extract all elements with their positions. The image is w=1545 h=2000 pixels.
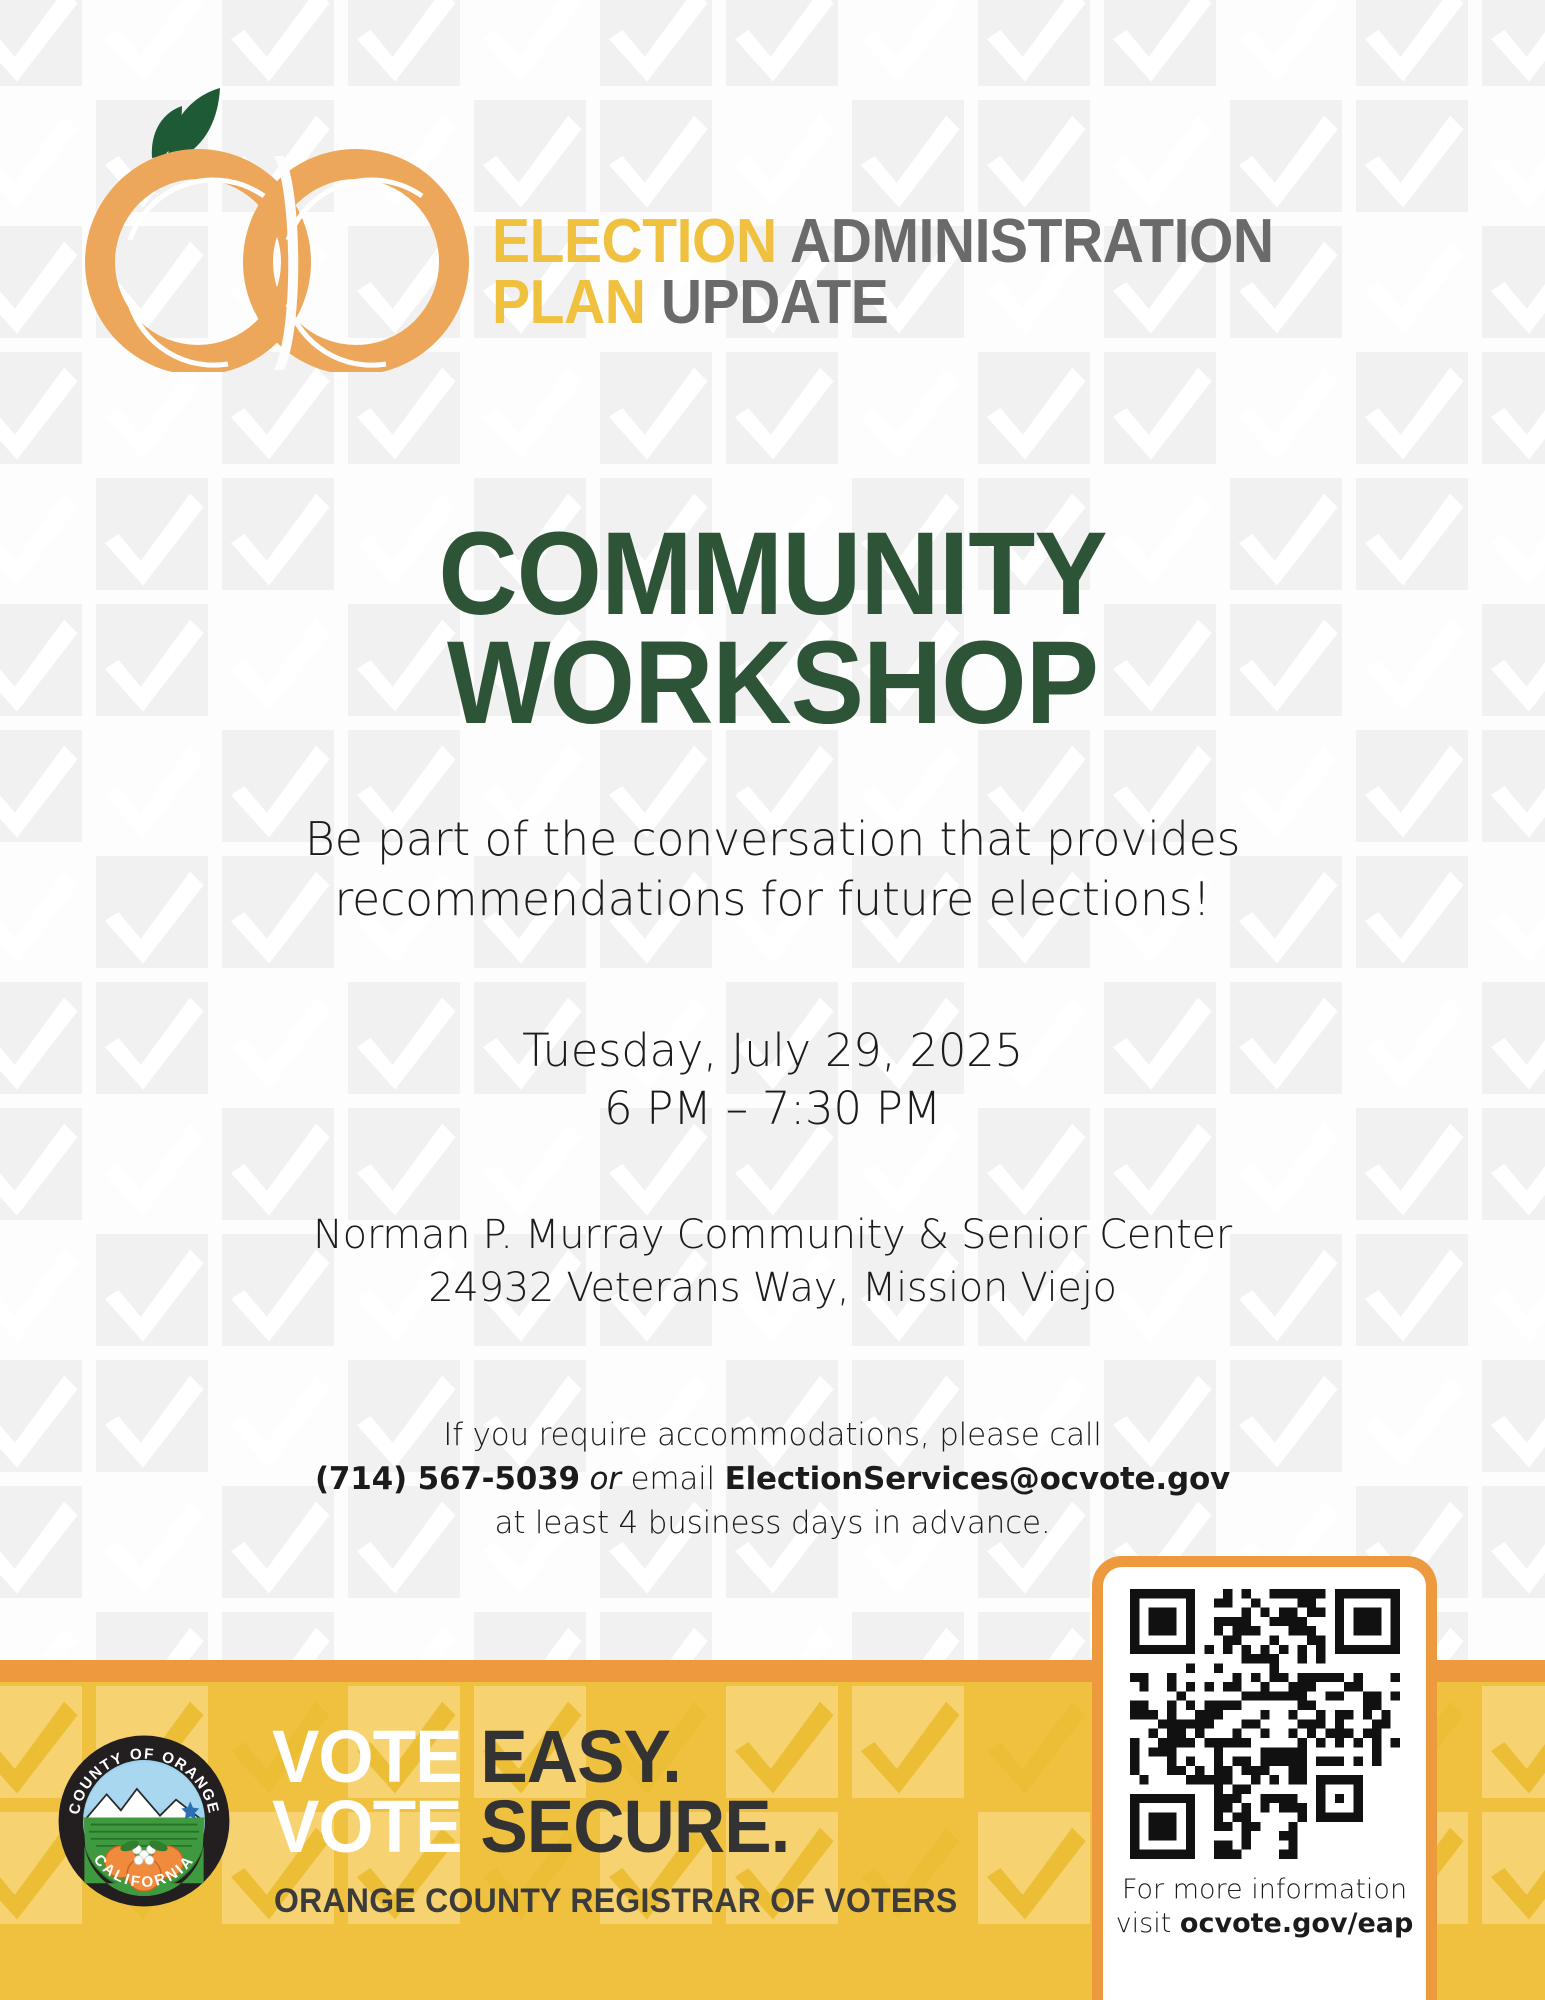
qr-caption: For more information visit ocvote.gov/ea… — [1116, 1873, 1414, 1941]
header-title-line-1: ELECTION ADMINISTRATION — [492, 212, 1274, 273]
event-venue: Norman P. Murray Community & Senior Cent… — [0, 1209, 1545, 1262]
header-update-word: UPDATE — [661, 268, 889, 337]
qr-visit-word: visit — [1116, 1908, 1172, 1939]
slogan-secure: SECURE. — [480, 1785, 789, 1868]
header-title-block: ELECTION ADMINISTRATION PLAN UPDATE — [492, 212, 1342, 334]
page-title-line-2: WORKSHOP — [54, 629, 1491, 738]
qr-caption-line-1: For more information — [1116, 1873, 1414, 1907]
vote-slogan: VOTE EASY. VOTE SECURE. — [272, 1722, 811, 1863]
accommodations-line-1: If you require accommodations, please ca… — [0, 1413, 1545, 1457]
qr-caption-line-2: visit ocvote.gov/eap — [1116, 1907, 1414, 1941]
lead-line-1: Be part of the conversation that provide… — [0, 810, 1545, 870]
event-time: 6 PM – 7:30 PM — [0, 1080, 1545, 1139]
accommodations-phone[interactable]: (714) 567-5039 — [315, 1461, 580, 1497]
accommodations-email-prefix: email — [630, 1461, 715, 1497]
event-address: 24932 Veterans Way, Mission Viejo — [0, 1262, 1545, 1315]
flyer-page: ELECTION ADMINISTRATION PLAN UPDATE COMM… — [0, 0, 1545, 2000]
accommodations-line-2: (714) 567-5039 or email ElectionServices… — [0, 1457, 1545, 1501]
lead-line-2: recommendations for future elections! — [0, 870, 1545, 930]
page-title: COMMUNITY WORKSHOP — [0, 520, 1545, 737]
county-of-orange-seal-icon: COUNTY OF ORANGE CALIFORNIA — [55, 1732, 233, 1910]
registrar-label: ORANGE COUNTY REGISTRAR OF VOTERS — [274, 1882, 957, 1921]
event-datetime: Tuesday, July 29, 2025 6 PM – 7:30 PM — [0, 1022, 1545, 1139]
slogan-line-1: VOTE EASY. — [272, 1722, 789, 1792]
page-title-line-1: COMMUNITY — [54, 520, 1491, 629]
oc-orange-logo — [78, 72, 538, 372]
qr-info-panel[interactable]: For more information visit ocvote.gov/ea… — [1092, 1556, 1437, 2000]
lead-paragraph: Be part of the conversation that provide… — [0, 810, 1545, 930]
header-title-line-2: PLAN UPDATE — [492, 273, 1274, 334]
header-election-word: ELECTION — [492, 207, 777, 276]
slogan-line-2: VOTE SECURE. — [272, 1792, 789, 1862]
accommodations-line-3: at least 4 business days in advance. — [0, 1501, 1545, 1545]
accommodations-note: If you require accommodations, please ca… — [0, 1413, 1545, 1545]
header-plan-word: PLAN — [492, 268, 645, 337]
header-administration-word: ADMINISTRATION — [790, 207, 1274, 276]
qr-code-icon[interactable] — [1130, 1589, 1400, 1859]
qr-url[interactable]: ocvote.gov/eap — [1180, 1908, 1413, 1939]
flyer-header: ELECTION ADMINISTRATION PLAN UPDATE — [0, 0, 1545, 420]
accommodations-conjunction: or — [590, 1461, 621, 1497]
slogan-vote-2: VOTE — [272, 1785, 462, 1868]
accommodations-email[interactable]: ElectionServices@ocvote.gov — [725, 1461, 1230, 1497]
event-location: Norman P. Murray Community & Senior Cent… — [0, 1209, 1545, 1315]
flyer-body: Be part of the conversation that provide… — [0, 810, 1545, 1545]
event-date: Tuesday, July 29, 2025 — [0, 1022, 1545, 1081]
